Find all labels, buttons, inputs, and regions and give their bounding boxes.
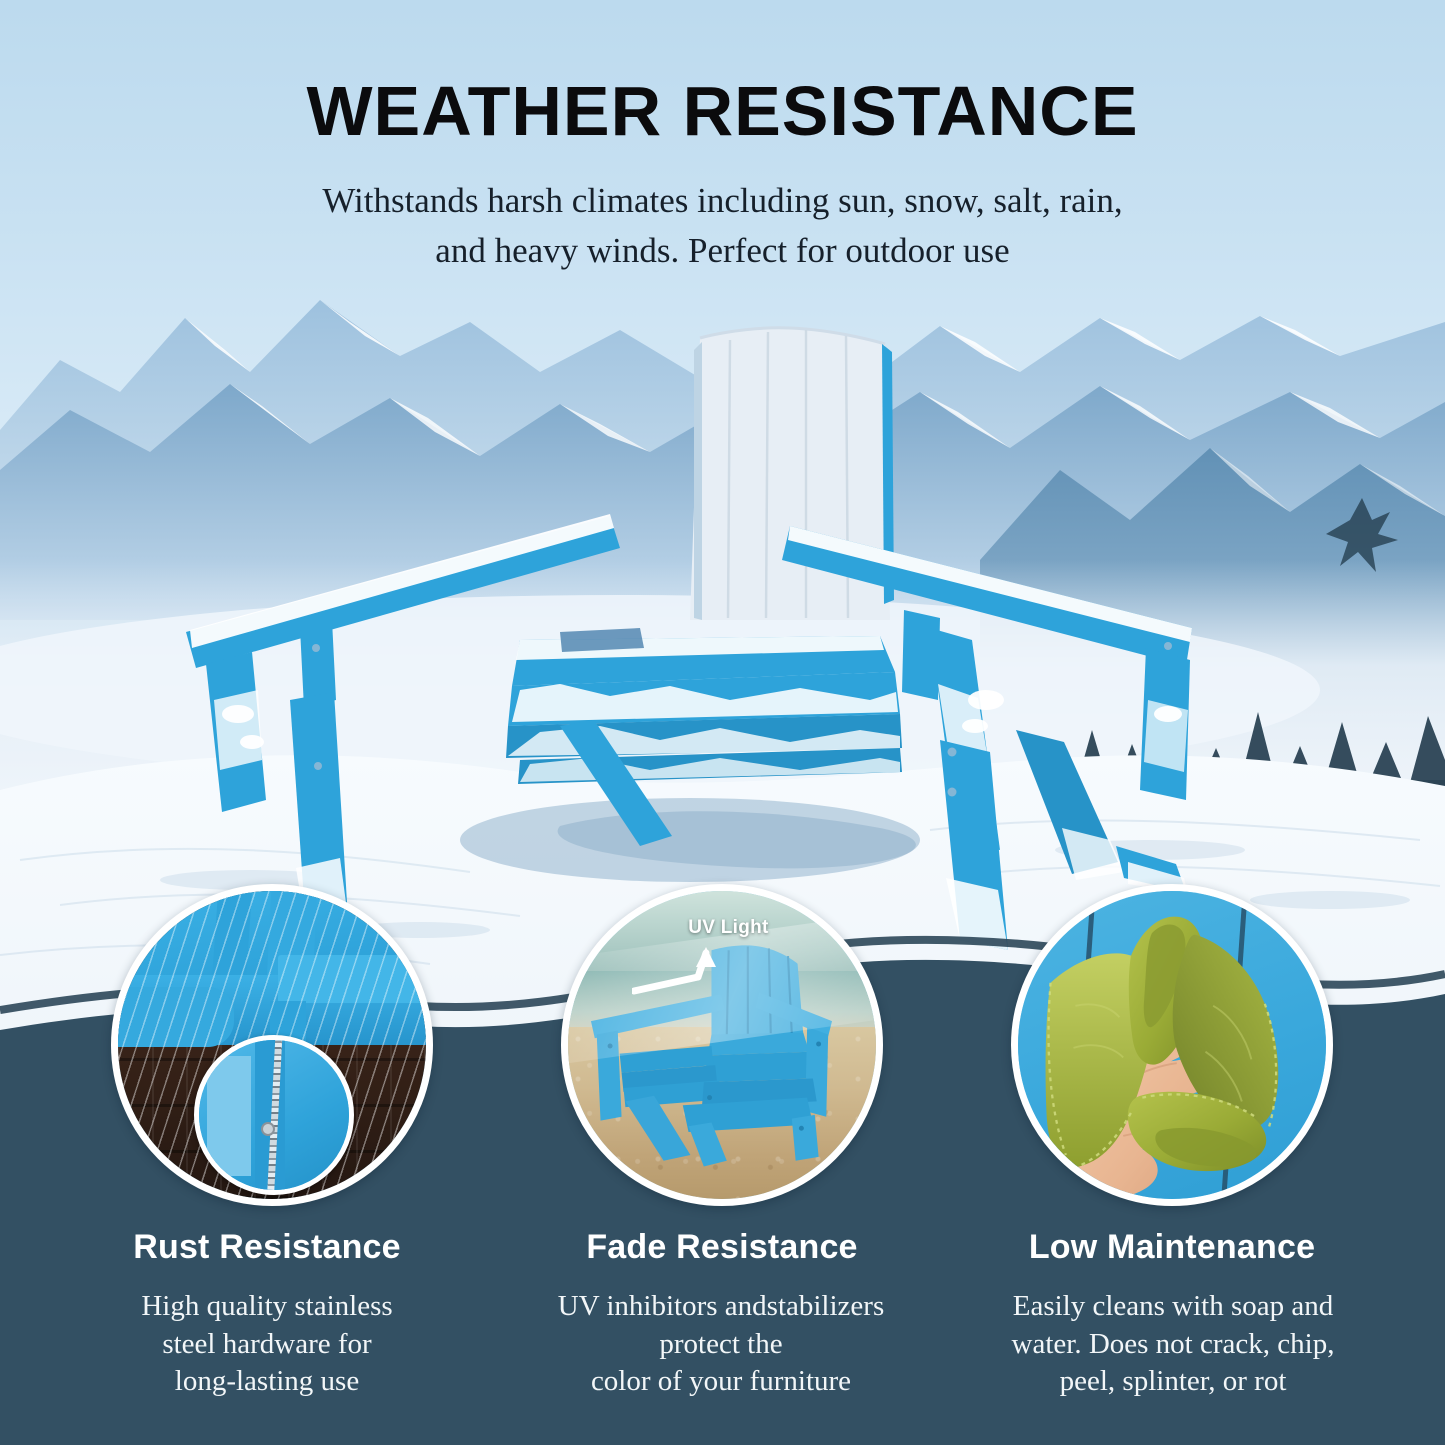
subtitle-line-2: and heavy winds. Perfect for outdoor use: [0, 226, 1445, 276]
feature-body-line-2: water. Does not crack, chip,: [958, 1326, 1388, 1364]
feature-image-rust-resistance: [111, 884, 433, 1206]
feature-title-low-maintenance: Low Maintenance: [962, 1228, 1382, 1267]
feature-body-line-1: UV inhibitors andstabilizers: [506, 1288, 936, 1326]
feature-image-low-maintenance: [1011, 884, 1333, 1206]
feature-body-rust-resistance: High quality stainless steel hardware fo…: [52, 1288, 482, 1401]
feature-body-line-3: long-lasting use: [52, 1363, 482, 1401]
feature-body-line-2: steel hardware for: [52, 1326, 482, 1364]
feature-body-low-maintenance: Easily cleans with soap and water. Does …: [958, 1288, 1388, 1401]
feature-body-fade-resistance: UV inhibitors andstabilizers protect the…: [506, 1288, 936, 1401]
feature-title-fade-resistance: Fade Resistance: [512, 1228, 932, 1267]
page-subtitle: Withstands harsh climates including sun,…: [0, 176, 1445, 275]
uv-light-label: UV Light: [688, 917, 769, 939]
uv-light-arrow-icon: [632, 947, 728, 999]
chain-detail-inset: [194, 1035, 354, 1195]
feature-body-line-2: protect the: [506, 1326, 936, 1364]
page-title: WEATHER RESISTANCE: [0, 74, 1445, 148]
microfiber-cloth-illustration: [1018, 891, 1326, 1199]
feature-body-line-3: color of your furniture: [506, 1363, 936, 1401]
feature-body-line-1: Easily cleans with soap and: [958, 1288, 1388, 1326]
feature-body-line-3: peel, splinter, or rot: [958, 1363, 1388, 1401]
subtitle-line-1: Withstands harsh climates including sun,…: [0, 176, 1445, 226]
feature-card-fade-resistance: UV Light: [561, 884, 883, 1206]
feature-title-rust-resistance: Rust Resistance: [57, 1228, 477, 1267]
marketing-banner: WEATHER RESISTANCE Withstands harsh clim…: [0, 0, 1445, 1445]
feature-body-line-1: High quality stainless: [52, 1288, 482, 1326]
feature-card-low-maintenance: [1011, 884, 1333, 1206]
header-block: WEATHER RESISTANCE Withstands harsh clim…: [0, 0, 1445, 276]
feature-card-rust-resistance: [111, 884, 433, 1206]
feature-image-fade-resistance: UV Light: [561, 884, 883, 1206]
